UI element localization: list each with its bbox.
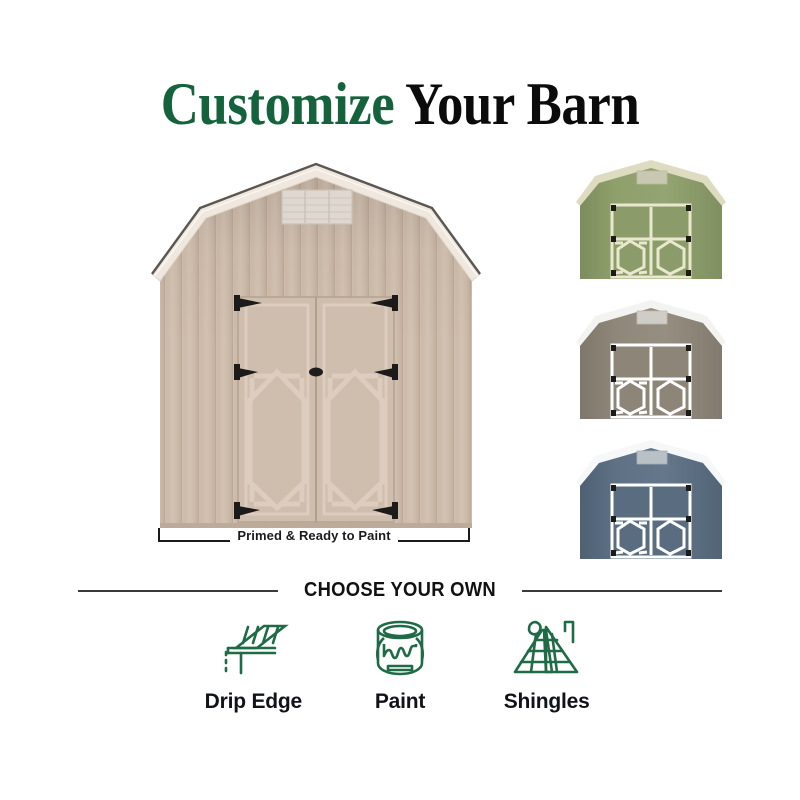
feature-shingles[interactable]: Shingles xyxy=(473,612,620,714)
feature-label: Paint xyxy=(375,690,425,714)
primed-barn-image xyxy=(130,150,502,540)
shingles-icon xyxy=(509,612,585,684)
feature-label: Drip Edge xyxy=(205,690,302,714)
barn-doors xyxy=(238,297,394,522)
feature-label: Shingles xyxy=(504,690,590,714)
color-option-blue[interactable] xyxy=(566,435,736,565)
color-option-green[interactable] xyxy=(566,155,736,285)
choose-your-own-section: CHOOSE YOUR OWN xyxy=(0,572,800,608)
primed-caption: Primed & Ready to Paint xyxy=(0,524,628,548)
thumb-doors xyxy=(611,205,691,277)
title-green-part: Customize xyxy=(161,71,395,137)
page-title: Customize Your Barn xyxy=(48,74,752,134)
gable-vent-window xyxy=(282,190,352,224)
choose-heading: CHOOSE YOUR OWN xyxy=(32,572,768,608)
feature-list: Drip Edge Paint xyxy=(180,612,620,732)
color-options-list xyxy=(566,155,738,575)
thumb-doors xyxy=(611,485,691,557)
paint-bucket-icon xyxy=(365,612,435,684)
feature-paint[interactable]: Paint xyxy=(327,612,474,714)
thumb-doors xyxy=(611,345,691,417)
promo-graphic: Customize Your Barn xyxy=(0,0,800,800)
title-black-part: Your Barn xyxy=(394,71,639,137)
drip-edge-icon xyxy=(217,612,289,684)
feature-drip-edge[interactable]: Drip Edge xyxy=(180,612,327,714)
color-option-gray[interactable] xyxy=(566,295,736,425)
